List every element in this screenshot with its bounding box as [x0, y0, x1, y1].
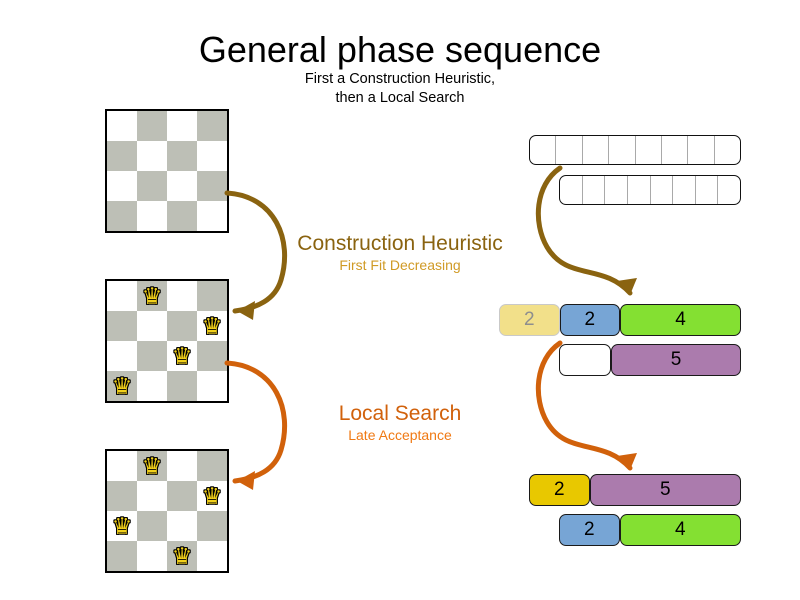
board-cell [137, 311, 167, 341]
board-cell [167, 451, 197, 481]
arrow-board-construction-heuristic [215, 180, 305, 320]
board-cell: ♛ [137, 451, 167, 481]
bin-segment [673, 176, 696, 204]
board-cell [197, 141, 227, 171]
board-cell [167, 511, 197, 541]
page-subtitle: First a Construction Heuristic, then a L… [0, 70, 800, 108]
board-cell [107, 341, 137, 371]
bin-item-label: 4 [675, 309, 686, 331]
board-cell [107, 481, 137, 511]
page-title: General phase sequence [0, 28, 800, 72]
board-cell [107, 201, 137, 231]
queen-icon: ♛ [107, 511, 137, 541]
board-cell [167, 481, 197, 511]
bin-segment [688, 136, 714, 164]
chessboard-empty [105, 109, 229, 233]
board-cell [137, 111, 167, 141]
slide-canvas: General phase sequence First a Construct… [0, 0, 800, 600]
bin-item-label: 5 [660, 479, 671, 501]
board-cell [107, 311, 137, 341]
subtitle-line-2: then a Local Search [0, 89, 800, 108]
bin-item-label: 2 [584, 519, 595, 541]
board-cell [137, 141, 167, 171]
board-cell: ♛ [107, 511, 137, 541]
bin-segment [718, 176, 740, 204]
bin-item: 2 [559, 514, 620, 546]
board-cell [197, 511, 227, 541]
board-cell [167, 201, 197, 231]
bin-item-label: 2 [524, 309, 535, 331]
arrow-bin-local-search [525, 330, 655, 482]
board-cell [167, 111, 197, 141]
board-cell [137, 511, 167, 541]
board-cell [137, 341, 167, 371]
board-cell [137, 541, 167, 571]
board-cell [107, 171, 137, 201]
chessboard-local-search: ♛♛♛♛ [105, 449, 229, 573]
bin-segment [715, 136, 740, 164]
board-cell [137, 201, 167, 231]
board-cell [107, 541, 137, 571]
board-cell: ♛ [137, 281, 167, 311]
bin-item-label: 2 [584, 309, 595, 331]
chessboard-construction-heuristic: ♛♛♛♛ [105, 279, 229, 403]
bin-segment [696, 176, 719, 204]
board-cell: ♛ [107, 371, 137, 401]
board-cell [137, 481, 167, 511]
board-cell [167, 171, 197, 201]
board-cell [137, 371, 167, 401]
board-cell [107, 281, 137, 311]
board-cell [167, 141, 197, 171]
queen-icon: ♛ [107, 371, 137, 401]
bin-segment [662, 136, 688, 164]
queen-icon: ♛ [137, 281, 167, 311]
board-cell [167, 311, 197, 341]
board-cell [107, 141, 137, 171]
board-cell [197, 111, 227, 141]
arrow-bin-construction-heuristic [525, 155, 655, 310]
bin-item-label: 2 [554, 479, 565, 501]
subtitle-line-1: First a Construction Heuristic, [0, 70, 800, 89]
bin-item-label: 5 [671, 349, 682, 371]
board-cell [137, 171, 167, 201]
board-cell [167, 281, 197, 311]
arrow-board-local-search [215, 350, 305, 490]
board-cell: ♛ [167, 341, 197, 371]
board-cell: ♛ [167, 541, 197, 571]
queen-icon: ♛ [167, 541, 197, 571]
queen-icon: ♛ [167, 341, 197, 371]
bin-item: 4 [620, 514, 741, 546]
board-cell [197, 541, 227, 571]
board-cell [167, 371, 197, 401]
board-cell [107, 451, 137, 481]
bin-item-label: 4 [675, 519, 686, 541]
queen-icon: ♛ [137, 451, 167, 481]
bin-local-search-result-2: 24 [559, 514, 741, 546]
board-cell [107, 111, 137, 141]
